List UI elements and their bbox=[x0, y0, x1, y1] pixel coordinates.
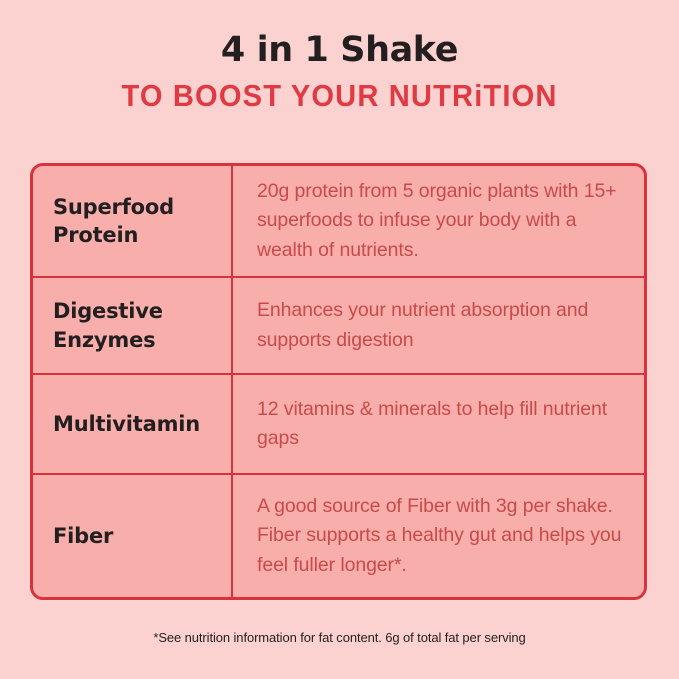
benefit-label: Fiber bbox=[53, 522, 113, 550]
page-subtitle: TO BOOST YOUR NUTRiTION bbox=[20, 78, 658, 114]
product-benefits-infographic: 4 in 1 Shake TO BOOST YOUR NUTRiTION Sup… bbox=[0, 0, 679, 679]
table-row: Multivitamin 12 vitamins & minerals to h… bbox=[33, 375, 644, 475]
benefit-label: Digestive Enzymes bbox=[53, 297, 223, 354]
table-cell-label: Superfood Protein bbox=[33, 166, 233, 276]
benefit-description: 12 vitamins & minerals to help fill nutr… bbox=[257, 395, 628, 454]
page-title: 4 in 1 Shake bbox=[0, 32, 679, 69]
table-cell-description: 20g protein from 5 organic plants with 1… bbox=[233, 166, 644, 276]
table-cell-label: Digestive Enzymes bbox=[33, 278, 233, 373]
table-cell-label: Multivitamin bbox=[33, 375, 233, 473]
table-cell-description: 12 vitamins & minerals to help fill nutr… bbox=[233, 375, 644, 473]
benefits-table: Superfood Protein 20g protein from 5 org… bbox=[30, 163, 647, 600]
table-cell-label: Fiber bbox=[33, 475, 233, 597]
header: 4 in 1 Shake TO BOOST YOUR NUTRiTION bbox=[0, 0, 679, 113]
table-cell-description: A good source of Fiber with 3g per shake… bbox=[233, 475, 644, 597]
benefit-label: Multivitamin bbox=[53, 410, 200, 438]
benefit-label: Superfood Protein bbox=[53, 193, 223, 250]
table-cell-description: Enhances your nutrient absorption and su… bbox=[233, 278, 644, 373]
footnote: *See nutrition information for fat conte… bbox=[0, 630, 679, 645]
benefit-description: 20g protein from 5 organic plants with 1… bbox=[257, 177, 628, 265]
benefit-description: A good source of Fiber with 3g per shake… bbox=[257, 492, 628, 580]
table-row: Fiber A good source of Fiber with 3g per… bbox=[33, 475, 644, 597]
table-row: Superfood Protein 20g protein from 5 org… bbox=[33, 166, 644, 278]
table-row: Digestive Enzymes Enhances your nutrient… bbox=[33, 278, 644, 375]
benefit-description: Enhances your nutrient absorption and su… bbox=[257, 296, 628, 355]
